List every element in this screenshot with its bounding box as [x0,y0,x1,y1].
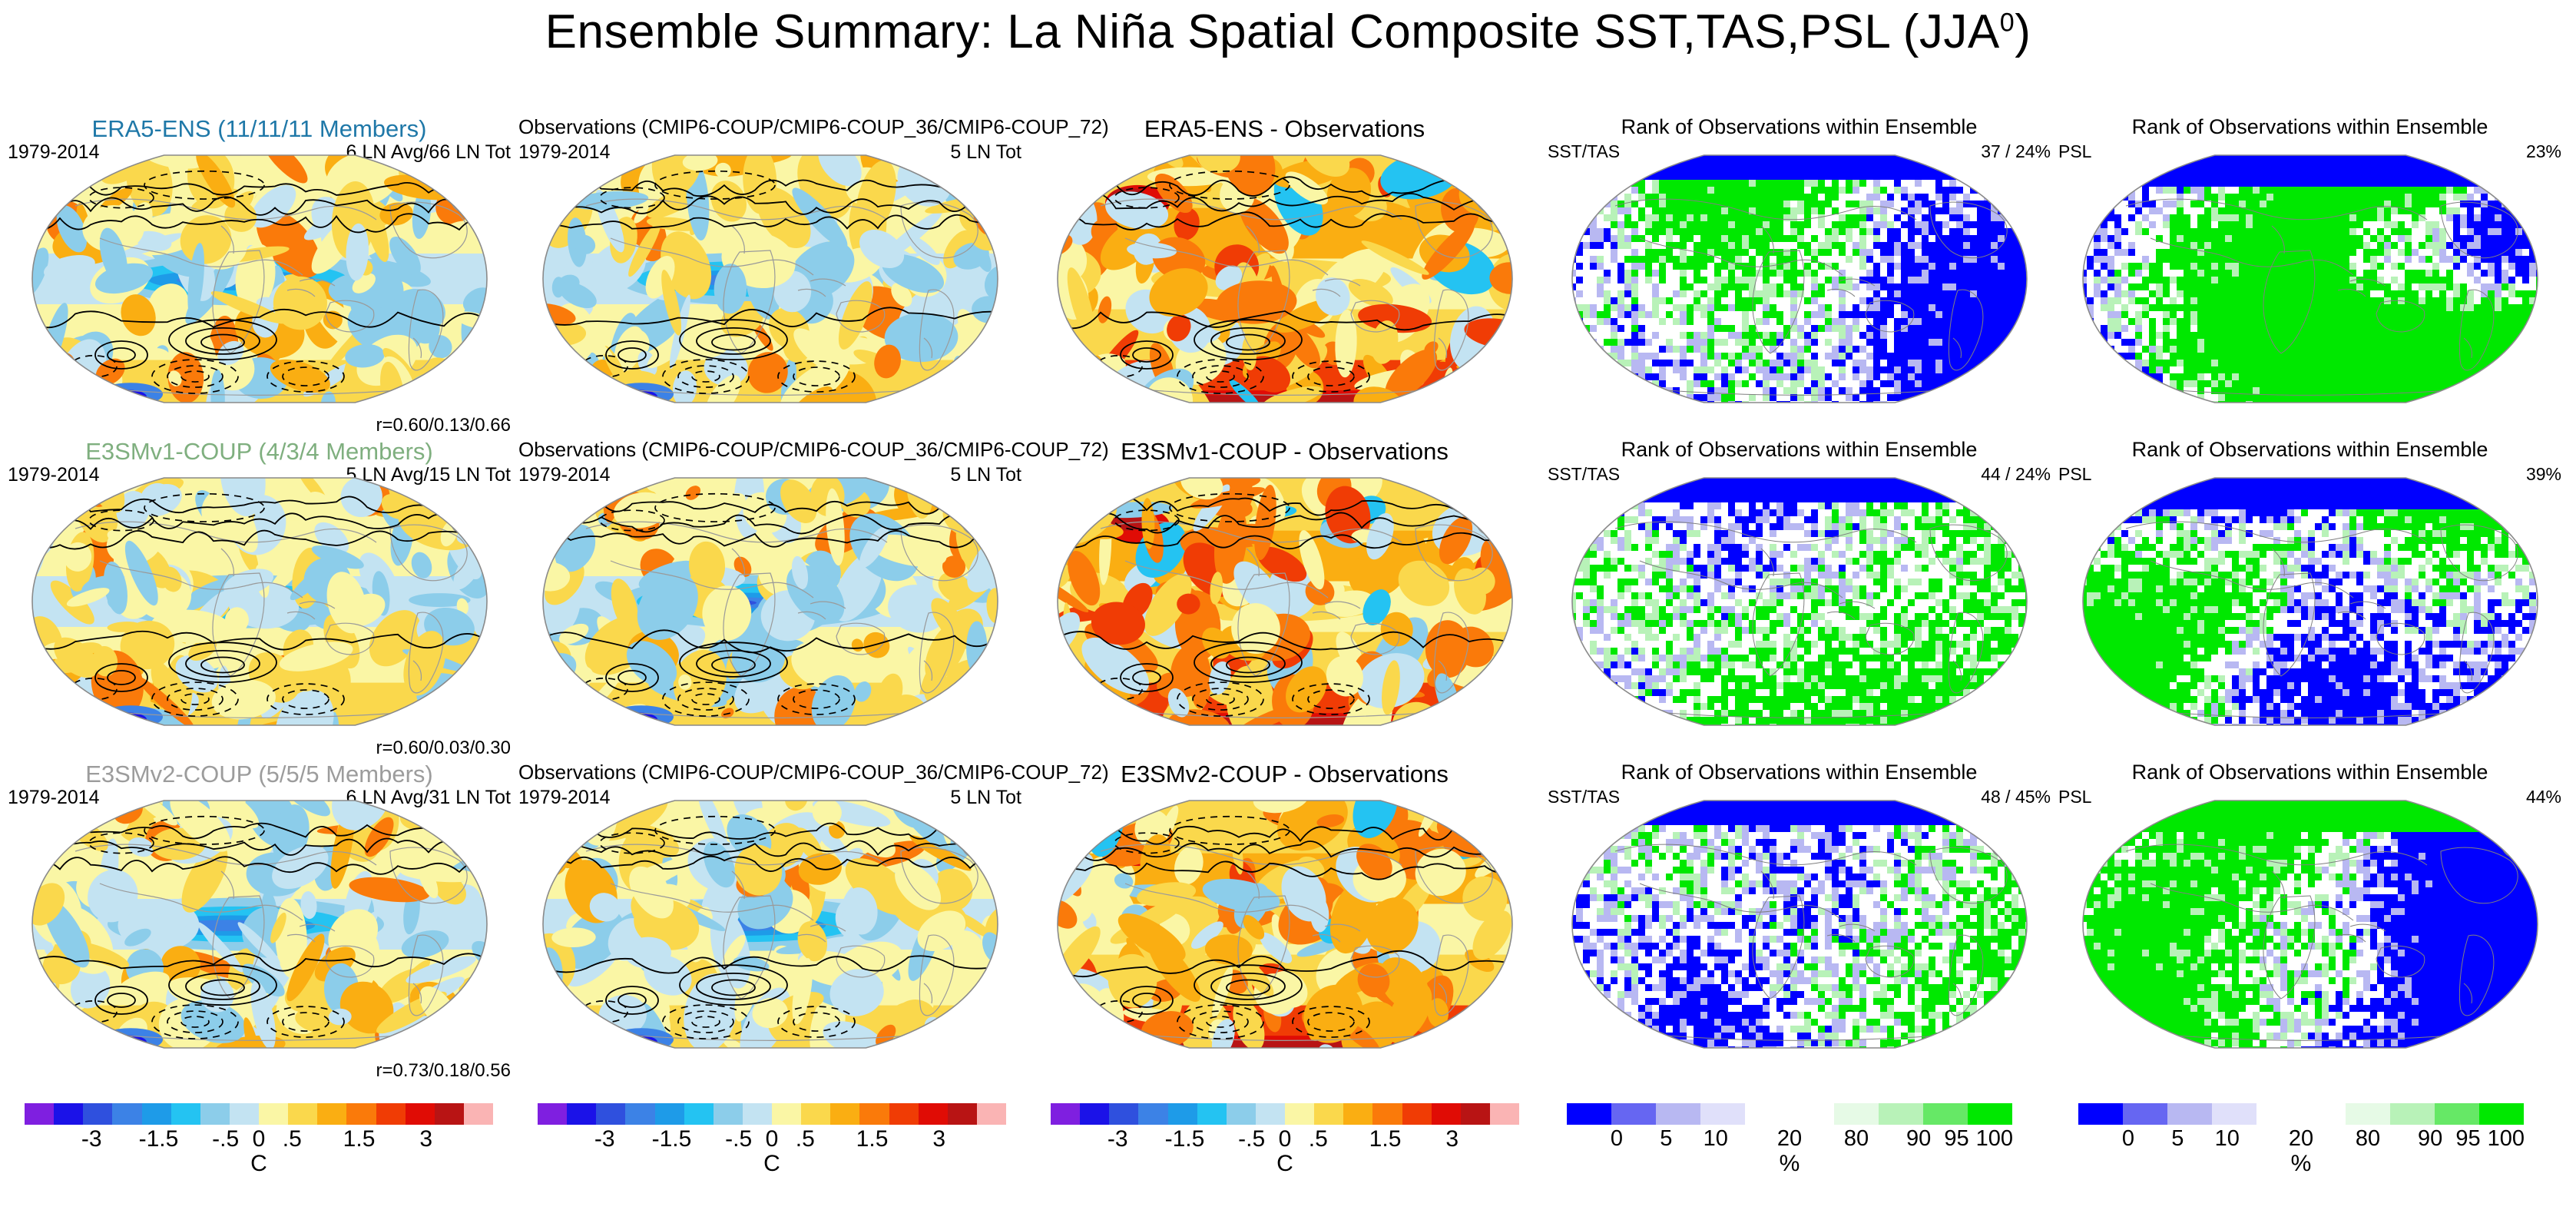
colorbar-rank-1-swatch [1968,1103,2012,1125]
colorbar-rank-2-tick-label: 80 [2356,1126,2380,1152]
difference-panel-title: E3SMv2-COUP - Observations [1033,761,1536,788]
colorbar-temperature-3-swatch [1197,1103,1227,1125]
observations-panel-title: Observations (CMIP6-COUP/CMIP6-COUP_36/C… [518,438,1021,462]
colorbar-temperature-3-swatch [1051,1103,1080,1125]
rank-map [2080,152,2541,406]
rank-panel-title: Rank of Observations within Ensemble [2058,761,2561,784]
colorbar-temperature-3-swatch [1080,1103,1109,1125]
colorbar-temperature-1-swatch [171,1103,200,1125]
colorbar-temperature-1-swatch [288,1103,317,1125]
colorbar-rank-1-tick-label: 0 [1611,1126,1623,1152]
rank-map [1569,797,2030,1051]
colorbar-temperature-1-tick-label: 1.5 [343,1126,376,1152]
colorbar-rank-2-tick-label: 0 [2122,1126,2134,1152]
colorbar-rank-1-strip [1567,1103,2012,1125]
colorbar-temperature-1-swatch [230,1103,259,1125]
colorbar-temperature-2-swatch [567,1103,596,1125]
observations-panel-title: Observations (CMIP6-COUP/CMIP6-COUP_36/C… [518,115,1021,139]
colorbar-temperature-3-tick-label: 0 [1279,1126,1292,1152]
colorbar-temperature-2-tick-label: .5 [796,1126,815,1152]
colorbar-temperature-2-swatch [919,1103,948,1125]
colorbar-temperature-3-strip [1051,1103,1519,1125]
panel-rank-psl-row2: Rank of Observations within EnsemblePSL3… [2058,438,2561,761]
colorbar-rank-2-swatch [2167,1103,2212,1125]
colorbar-rank-1-tick-label: 90 [1906,1126,1931,1152]
anomaly-map [1055,475,1515,728]
colorbar-rank-2-swatch [2346,1103,2390,1125]
panel-difference-row2: E3SMv1-COUP - Observations [1033,438,1536,761]
colorbar-temperature-1-tick-label: .5 [283,1126,302,1152]
rank-panel-title: Rank of Observations within Ensemble [2058,438,2561,462]
colorbar-rank-1-swatch [1567,1103,1611,1125]
colorbar-temperature-2-ticks: -3-1.5-.50.51.53 [538,1125,1006,1151]
colorbar-temperature-3-swatch [1461,1103,1490,1125]
colorbar-temperature-1-swatch [142,1103,171,1125]
colorbar-temperature-3-tick-label: -.5 [1238,1126,1265,1152]
colorbar-rank-2-tick-label: 90 [2418,1126,2442,1152]
colorbar-temperature-2-swatch [830,1103,859,1125]
difference-panel-title: ERA5-ENS - Observations [1033,115,1536,143]
panel-observations-row1: Observations (CMIP6-COUP/CMIP6-COUP_36/C… [518,115,1021,438]
model-panel-title: E3SMv2-COUP (5/5/5 Members) [8,761,511,788]
correlation-label: r=0.73/0.18/0.56 [376,1060,511,1082]
colorbar-rank-2-swatch [2078,1103,2123,1125]
anomaly-map [1055,152,1515,406]
colorbar-rank-2: 051020809095100% [2078,1103,2524,1151]
colorbar-rank-2-tick-label: 10 [2215,1126,2240,1152]
colorbar-rank-1-tick-label: 100 [1976,1126,2013,1152]
colorbar-rank-2-unit-label: % [2078,1151,2524,1177]
colorbar-rank-1-tick-label: 20 [1777,1126,1802,1152]
colorbar-rank-1-swatch [1923,1103,1968,1125]
colorbar-temperature-1-swatch [435,1103,464,1125]
colorbar-rank-1-swatch [1656,1103,1700,1125]
colorbar-temperature-3-unit-label: C [1051,1151,1519,1177]
anomaly-map [29,797,490,1051]
colorbar-temperature-2-strip [538,1103,1006,1125]
colorbar-temperature-2-swatch [714,1103,743,1125]
colorbar-temperature-3-swatch [1138,1103,1167,1125]
colorbar-temperature-2-tick-label: -.5 [725,1126,752,1152]
colorbar-temperature-1-tick-label: -3 [81,1126,102,1152]
panel-rank-psl-row1: Rank of Observations within EnsemblePSL2… [2058,115,2561,438]
rank-map [2080,797,2541,1051]
colorbar-temperature-1-strip [25,1103,493,1125]
colorbar-temperature-2-swatch [743,1103,772,1125]
rank-map [1569,152,2030,406]
colorbar-temperature-2-swatch [801,1103,830,1125]
page-title: Ensemble Summary: La Niña Spatial Compos… [0,5,2576,59]
panel-rank-sst-row2: Rank of Observations within EnsembleSST/… [1548,438,2051,761]
panel-model-composite-row1: ERA5-ENS (11/11/11 Members)1979-20146 LN… [8,115,511,438]
model-panel-title: E3SMv1-COUP (4/3/4 Members) [8,438,511,466]
colorbar-temperature-3-swatch [1314,1103,1343,1125]
colorbar-temperature-1-swatch [317,1103,346,1125]
colorbar-rank-2-strip [2078,1103,2524,1125]
colorbar-temperature-3-tick-label: -1.5 [1165,1126,1205,1152]
colorbar-temperature-1-swatch [376,1103,406,1125]
model-panel-title: ERA5-ENS (11/11/11 Members) [8,115,511,143]
panel-difference-row1: ERA5-ENS - Observations [1033,115,1536,438]
rank-panel-title: Rank of Observations within Ensemble [1548,438,2051,462]
panel-rank-psl-row3: Rank of Observations within EnsemblePSL4… [2058,761,2561,1083]
anomaly-map [1055,797,1515,1051]
colorbar-temperature-2-tick-label: 3 [932,1126,945,1152]
colorbar-temperature-3-swatch [1402,1103,1432,1125]
colorbar-rank-2-swatch [2301,1103,2346,1125]
panel-observations-row2: Observations (CMIP6-COUP/CMIP6-COUP_36/C… [518,438,1021,761]
panel-difference-row3: E3SMv2-COUP - Observations [1033,761,1536,1083]
colorbar-temperature-3-swatch [1432,1103,1461,1125]
colorbar-temperature-1-swatch [200,1103,230,1125]
colorbar-rank-2-swatch [2479,1103,2524,1125]
colorbar-rank-1-swatch [1879,1103,1923,1125]
colorbar-temperature-3-swatch [1343,1103,1372,1125]
colorbar-temperature-3-swatch [1168,1103,1197,1125]
colorbar-temperature-2-swatch [977,1103,1006,1125]
colorbar-temperature-2-swatch [772,1103,801,1125]
colorbar-rank-2-tick-label: 100 [2488,1126,2525,1152]
correlation-label: r=0.60/0.03/0.30 [376,738,511,759]
colorbar-temperature-1-tick-label: 0 [253,1126,266,1152]
rank-map [1569,475,2030,728]
anomaly-map [29,152,490,406]
colorbar-temperature-3-ticks: -3-1.5-.50.51.53 [1051,1125,1519,1151]
panel-model-composite-row2: E3SMv1-COUP (4/3/4 Members)1979-20145 LN… [8,438,511,761]
colorbar-temperature-2: -3-1.5-.50.51.53C [538,1103,1006,1151]
correlation-label: r=0.60/0.13/0.66 [376,415,511,436]
colorbar-temperature-2-swatch [655,1103,684,1125]
rank-panel-title: Rank of Observations within Ensemble [2058,115,2561,139]
colorbar-temperature-2-unit-label: C [538,1151,1006,1177]
colorbar-temperature-1-swatch [464,1103,493,1125]
colorbar-temperature-1-swatch [25,1103,54,1125]
colorbar-temperature-3-tick-label: .5 [1309,1126,1328,1152]
colorbar-temperature-2-tick-label: -1.5 [652,1126,692,1152]
colorbar-rank-1-swatch [1790,1103,1834,1125]
colorbar-rank-1-swatch [1745,1103,1790,1125]
colorbar-rank-2-ticks: 051020809095100 [2078,1125,2524,1151]
colorbar-temperature-3-swatch [1285,1103,1314,1125]
colorbar-rank-1-swatch [1700,1103,1745,1125]
colorbar-temperature-1-unit-label: C [25,1151,493,1177]
colorbar-rank-2-swatch [2123,1103,2167,1125]
colorbar-rank-1-tick-label: 10 [1704,1126,1728,1152]
colorbar-temperature-3-tick-label: -3 [1108,1126,1128,1152]
colorbar-rank-1-unit-label: % [1567,1151,2012,1177]
colorbar-temperature-1-swatch [54,1103,83,1125]
page-title-superscript: 0 [2000,8,2015,37]
colorbar-temperature-3-swatch [1490,1103,1519,1125]
colorbar-temperature-2-tick-label: 1.5 [856,1126,889,1152]
colorbar-rank-1-swatch [1834,1103,1879,1125]
colorbar-temperature-1-tick-label: -1.5 [139,1126,179,1152]
colorbar-temperature-2-swatch [859,1103,889,1125]
anomaly-map [540,797,1001,1051]
panel-model-composite-row3: E3SMv2-COUP (5/5/5 Members)1979-20146 LN… [8,761,511,1083]
colorbar-rank-1: 051020809095100% [1567,1103,2012,1151]
colorbar-temperature-1-swatch [112,1103,141,1125]
colorbar-temperature-2-swatch [596,1103,625,1125]
colorbar-temperature-2-swatch [889,1103,919,1125]
colorbar-temperature-1-swatch [259,1103,288,1125]
colorbar-rank-1-tick-label: 95 [1944,1126,1968,1152]
colorbar-temperature-3-swatch [1372,1103,1402,1125]
colorbar-temperature-3-swatch [1109,1103,1138,1125]
colorbar-rank-2-swatch [2256,1103,2301,1125]
colorbar-temperature-2-swatch [538,1103,567,1125]
colorbar-temperature-3-swatch [1256,1103,1285,1125]
colorbar-rank-1-ticks: 051020809095100 [1567,1125,2012,1151]
page-title-text: Ensemble Summary: La Niña Spatial Compos… [545,5,2000,58]
observations-panel-title: Observations (CMIP6-COUP/CMIP6-COUP_36/C… [518,761,1021,784]
colorbar-temperature-3-tick-label: 1.5 [1369,1126,1402,1152]
colorbar-temperature-1-tick-label: 3 [419,1126,432,1152]
anomaly-map [29,475,490,728]
colorbar-temperature-2-swatch [625,1103,654,1125]
colorbar-temperature-1-swatch [406,1103,435,1125]
colorbar-temperature-3-swatch [1227,1103,1256,1125]
panel-observations-row3: Observations (CMIP6-COUP/CMIP6-COUP_36/C… [518,761,1021,1083]
panel-rank-sst-row3: Rank of Observations within EnsembleSST/… [1548,761,2051,1083]
colorbar-rank-2-swatch [2390,1103,2435,1125]
colorbar-temperature-3: -3-1.5-.50.51.53C [1051,1103,1519,1151]
colorbar-temperature-1-tick-label: -.5 [212,1126,239,1152]
colorbar-temperature-1-swatch [83,1103,112,1125]
rank-map [2080,475,2541,728]
page-title-close: ) [2015,5,2031,58]
colorbar-rank-2-tick-label: 20 [2289,1126,2313,1152]
colorbar-temperature-1-swatch [346,1103,376,1125]
colorbar-rank-2-swatch [2212,1103,2256,1125]
colorbar-rank-2-swatch [2435,1103,2479,1125]
colorbar-rank-1-tick-label: 80 [1844,1126,1869,1152]
colorbar-temperature-2-swatch [948,1103,977,1125]
rank-panel-title: Rank of Observations within Ensemble [1548,761,2051,784]
colorbar-rank-2-tick-label: 95 [2455,1126,2480,1152]
colorbar-temperature-2-swatch [684,1103,714,1125]
colorbar-temperature-1: -3-1.5-.50.51.53C [25,1103,493,1151]
colorbar-rank-1-swatch [1611,1103,1656,1125]
colorbar-rank-2-tick-label: 5 [2171,1126,2184,1152]
colorbar-rank-1-tick-label: 5 [1660,1126,1672,1152]
anomaly-map [540,475,1001,728]
anomaly-map [540,152,1001,406]
panel-rank-sst-row1: Rank of Observations within EnsembleSST/… [1548,115,2051,438]
colorbar-temperature-1-ticks: -3-1.5-.50.51.53 [25,1125,493,1151]
colorbar-temperature-2-tick-label: 0 [766,1126,779,1152]
colorbar-temperature-3-tick-label: 3 [1445,1126,1459,1152]
difference-panel-title: E3SMv1-COUP - Observations [1033,438,1536,466]
colorbar-temperature-2-tick-label: -3 [594,1126,615,1152]
rank-panel-title: Rank of Observations within Ensemble [1548,115,2051,139]
